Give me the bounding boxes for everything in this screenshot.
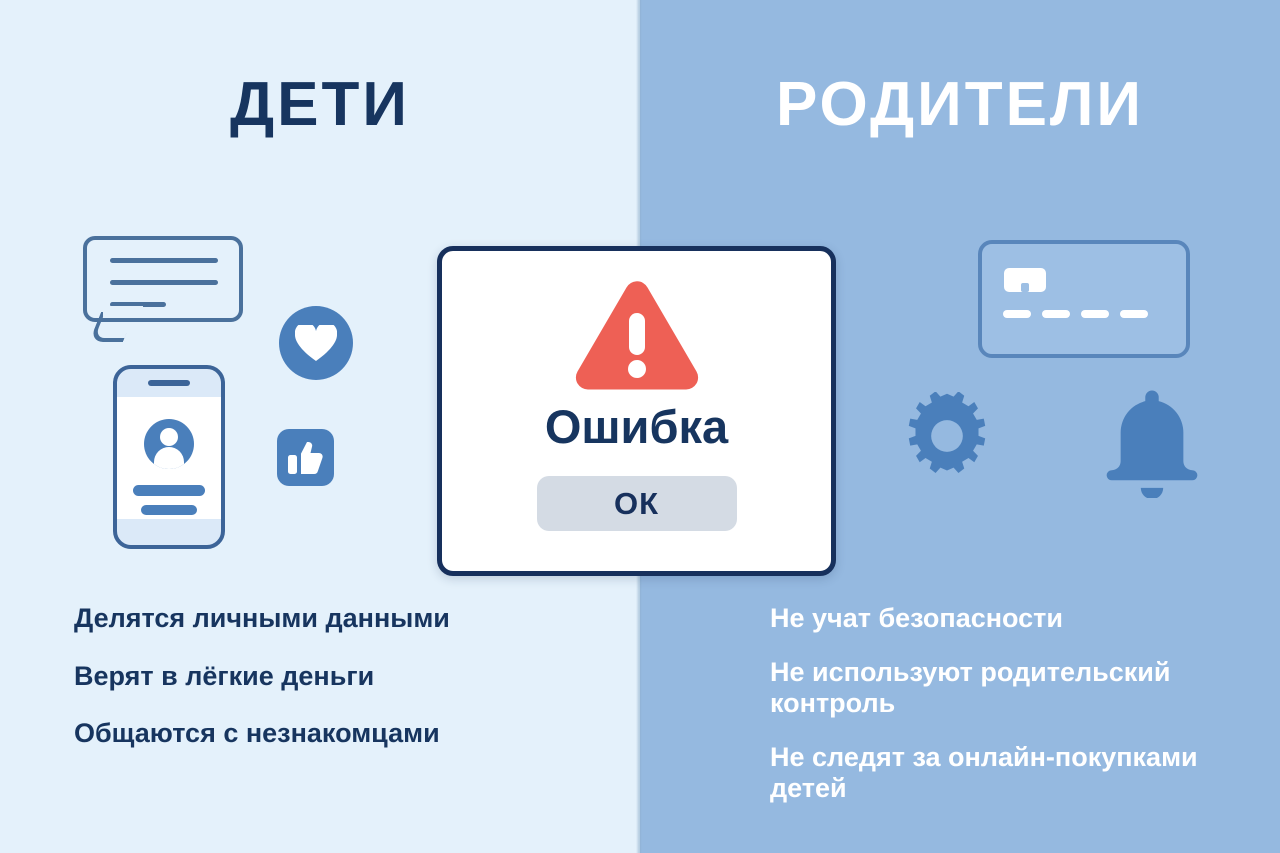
heart-reaction-icon — [279, 306, 353, 380]
list-item: Верят в лёгкие деньги — [74, 661, 614, 693]
phone-speaker — [148, 380, 190, 386]
card-number-dash — [1003, 310, 1031, 318]
phone-content-bar — [141, 505, 197, 515]
warning-triangle-icon — [572, 279, 702, 394]
speech-bubble-line — [110, 258, 218, 263]
phone-screen — [117, 397, 221, 519]
bell-notification-icon — [1096, 386, 1208, 498]
right-panel-list: Не учат безопасности Не используют родит… — [770, 603, 1220, 805]
speech-bubble-tail-mask — [103, 306, 143, 318]
phone-content-bar — [133, 485, 205, 496]
thumbs-up-reaction-icon — [277, 429, 334, 486]
dialog-title: Ошибка — [442, 401, 831, 453]
card-number-dash — [1120, 310, 1148, 318]
gear-icon — [903, 392, 991, 480]
dialog-ok-button[interactable]: ОК — [537, 476, 737, 531]
list-item: Не учат безопасности — [770, 603, 1220, 635]
credit-card-icon — [978, 240, 1190, 358]
avatar — [144, 419, 194, 469]
list-item: Не используют родительский контроль — [770, 657, 1220, 720]
card-chip — [1004, 268, 1046, 292]
infographic-poster: ДЕТИ РОДИТЕЛИ — [0, 0, 1280, 853]
right-panel-title: РОДИТЕЛИ — [640, 74, 1280, 136]
card-number-dash — [1081, 310, 1109, 318]
card-number-dash — [1042, 310, 1070, 318]
list-item: Делятся личными данными — [74, 603, 614, 635]
list-item: Не следят за онлайн-покупками детей — [770, 742, 1220, 805]
error-dialog: Ошибка ОК — [437, 246, 836, 576]
smartphone-profile-icon — [113, 365, 225, 549]
left-panel-list: Делятся личными данными Верят в лёгкие д… — [74, 603, 614, 750]
list-item: Общаются с незнакомцами — [74, 718, 614, 750]
left-panel-title: ДЕТИ — [0, 74, 640, 136]
speech-bubble-line — [110, 280, 218, 285]
